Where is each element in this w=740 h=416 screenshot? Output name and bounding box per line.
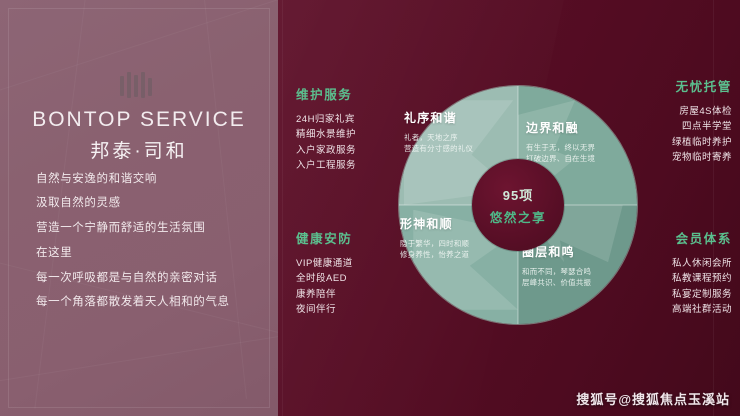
quadrant-subtitle: 有生于无，终以无界 (526, 142, 630, 153)
brand-copy-block: 自然与安逸的和谐交响 汲取自然的灵感 营造一个宁静而舒适的生活氛围 在这里 每一… (36, 172, 256, 319)
quadrant-title: 礼序和谐 (404, 109, 508, 126)
group-item: 高端社群活动 (624, 302, 732, 317)
group-item: 私教课程预约 (624, 271, 732, 286)
core-label: 悠然之享 (490, 207, 546, 226)
service-group-health: 健康安防 VIP健康通道 全时段AED 康养陪伴 夜间伴行 (296, 228, 404, 318)
service-group-membership: 会员体系 私人休闲会所 私教课程预约 私宴定制服务 高端社群活动 (624, 228, 732, 318)
group-item: 夜间伴行 (296, 302, 404, 317)
copy-line: 每一个角落都散发着天人相和的气息 (36, 295, 256, 309)
watermark: 搜狐号@搜狐焦点玉溪站 (576, 389, 730, 408)
decorative-line (713, 0, 714, 416)
group-item: 房屋4S体检 (624, 104, 732, 119)
quadrant-subtitle: 和而不同，琴瑟合鸣 (522, 266, 626, 277)
quadrant-subtitle: 层峰共识、价值共振 (522, 277, 626, 288)
group-item: 宠物临时寄养 (624, 150, 732, 165)
group-item: 精细水景维护 (296, 127, 404, 142)
brand-title-en: BONTOP SERVICE (0, 108, 278, 132)
group-item: 私人休闲会所 (624, 256, 732, 271)
diagram-core: 95项 悠然之享 (472, 159, 564, 251)
quadrant-label-top-right: 边界和融 有生于无，终以无界 打破边界、自在生境 (526, 119, 630, 165)
group-item: 入户家政服务 (296, 143, 404, 158)
group-item: 四点半学堂 (624, 119, 732, 134)
bontop-logo-mark-icon (120, 72, 160, 98)
group-item: 绿植临时养护 (624, 135, 732, 150)
quadrant-subtitle: 礼者，天地之序 (404, 132, 508, 143)
copy-line: 在这里 (36, 246, 256, 260)
group-item: VIP健康通道 (296, 256, 404, 271)
central-diagram: 礼序和谐 礼者，天地之序 营造有分寸感的礼仪 边界和融 有生于无，终以无界 打破… (398, 85, 638, 325)
group-title: 健康安防 (296, 228, 404, 247)
service-group-maintenance: 维护服务 24H归家礼宾 精细水景维护 入户家政服务 入户工程服务 (296, 84, 404, 174)
group-item: 入户工程服务 (296, 158, 404, 173)
quadrant-subtitle: 打破边界、自在生境 (526, 153, 630, 164)
quadrant-subtitle: 营造有分寸感的礼仪 (404, 143, 508, 154)
brand-title-cn: 邦泰·司和 (0, 136, 278, 163)
copy-line: 营造一个宁静而舒适的生活氛围 (36, 221, 256, 235)
left-brand-panel: BONTOP SERVICE 邦泰·司和 自然与安逸的和谐交响 汲取自然的灵感 … (0, 0, 278, 416)
core-count: 95项 (503, 185, 533, 204)
quadrant-label-bottom-right: 圈层和鸣 和而不同，琴瑟合鸣 层峰共识、价值共振 (522, 243, 626, 289)
quadrant-title: 边界和融 (526, 119, 630, 136)
decorative-line (282, 0, 283, 416)
group-title: 维护服务 (296, 84, 404, 103)
copy-line: 汲取自然的灵感 (36, 196, 256, 210)
copy-line: 自然与安逸的和谐交响 (36, 172, 256, 186)
quadrant-subtitle: 修身养性，怡养之道 (400, 249, 504, 260)
slide-canvas: BONTOP SERVICE 邦泰·司和 自然与安逸的和谐交响 汲取自然的灵感 … (0, 0, 740, 416)
quadrant-label-top-left: 礼序和谐 礼者，天地之序 营造有分寸感的礼仪 (404, 109, 508, 155)
copy-line: 每一次呼吸都是与自然的亲密对话 (36, 271, 256, 285)
group-title: 会员体系 (624, 228, 732, 247)
group-item: 全时段AED (296, 271, 404, 286)
group-item: 24H归家礼宾 (296, 112, 404, 127)
service-group-custody: 无忧托管 房屋4S体检 四点半学堂 绿植临时养护 宠物临时寄养 (624, 76, 732, 166)
group-title: 无忧托管 (624, 76, 732, 95)
group-item: 康养陪伴 (296, 287, 404, 302)
main-dark-panel: 维护服务 24H归家礼宾 精细水景维护 入户家政服务 入户工程服务 健康安防 V… (278, 0, 740, 416)
group-item: 私宴定制服务 (624, 287, 732, 302)
